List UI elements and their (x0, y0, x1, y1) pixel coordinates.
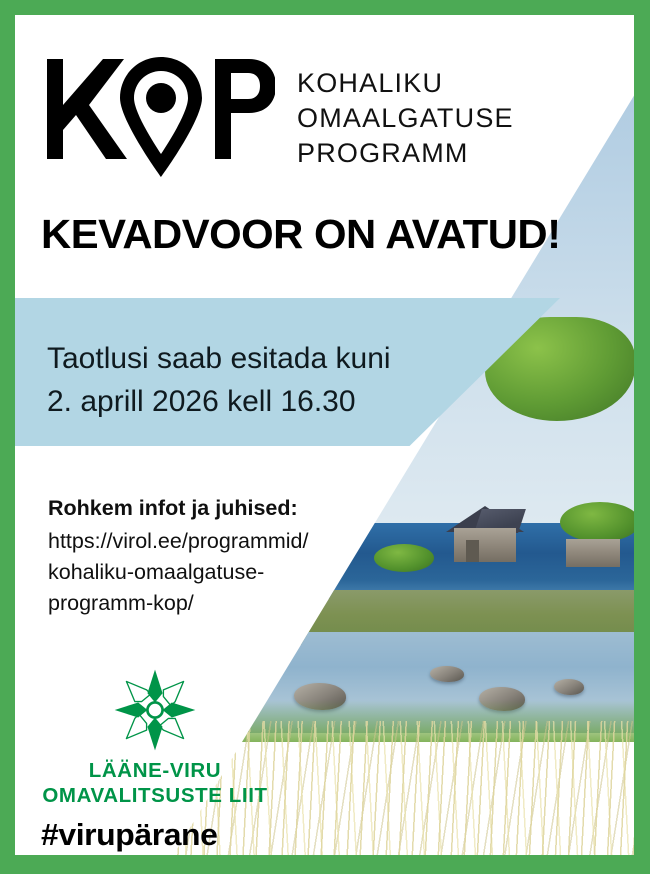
map-pin-dot (146, 83, 176, 113)
star-center-ring (147, 702, 162, 717)
headline: KEVADVOOR ON AVATUD! (41, 211, 561, 258)
partner-logo: LÄÄNE-VIRU OMAVALITSUSTE LIIT (33, 668, 277, 808)
poster: KOHALIKU OMAALGATUSE PROGRAMM KEVADVOOR … (0, 0, 650, 874)
info-url[interactable]: https://virol.ee/programmid/ kohaliku-om… (48, 526, 309, 619)
info-block: Rohkem infot ja juhised: https://virol.e… (48, 493, 309, 619)
deadline-text: Taotlusi saab esitada kuni 2. aprill 202… (47, 337, 391, 423)
poster-content: KOHALIKU OMAALGATUSE PROGRAMM KEVADVOOR … (15, 15, 634, 855)
kop-subtitle-line-3: PROGRAMM (297, 136, 514, 171)
kop-logo-lockup: KOHALIKU OMAALGATUSE PROGRAMM (43, 53, 514, 185)
info-url-line-3[interactable]: programm-kop/ (48, 588, 309, 619)
info-lead: Rohkem infot ja juhised: (48, 493, 309, 524)
partner-name: LÄÄNE-VIRU OMAVALITSUSTE LIIT (33, 758, 277, 808)
kop-logo-icon (43, 53, 275, 185)
deadline-line-2: 2. aprill 2026 kell 16.30 (47, 380, 391, 423)
partner-name-line-1: LÄÄNE-VIRU (33, 758, 277, 783)
partner-name-line-2: OMAVALITSUSTE LIIT (33, 783, 277, 808)
kop-subtitle-line-1: KOHALIKU (297, 66, 514, 101)
eight-point-star-icon (113, 668, 197, 752)
info-url-line-2[interactable]: kohaliku-omaalgatuse- (48, 557, 309, 588)
deadline-line-1: Taotlusi saab esitada kuni (47, 337, 391, 380)
info-url-line-1[interactable]: https://virol.ee/programmid/ (48, 526, 309, 557)
poster-canvas: KOHALIKU OMAALGATUSE PROGRAMM KEVADVOOR … (15, 15, 634, 855)
hashtag: #virupärane (41, 817, 218, 853)
kop-wordmark (43, 53, 275, 185)
kop-subtitle: KOHALIKU OMAALGATUSE PROGRAMM (297, 66, 514, 171)
kop-subtitle-line-2: OMAALGATUSE (297, 101, 514, 136)
